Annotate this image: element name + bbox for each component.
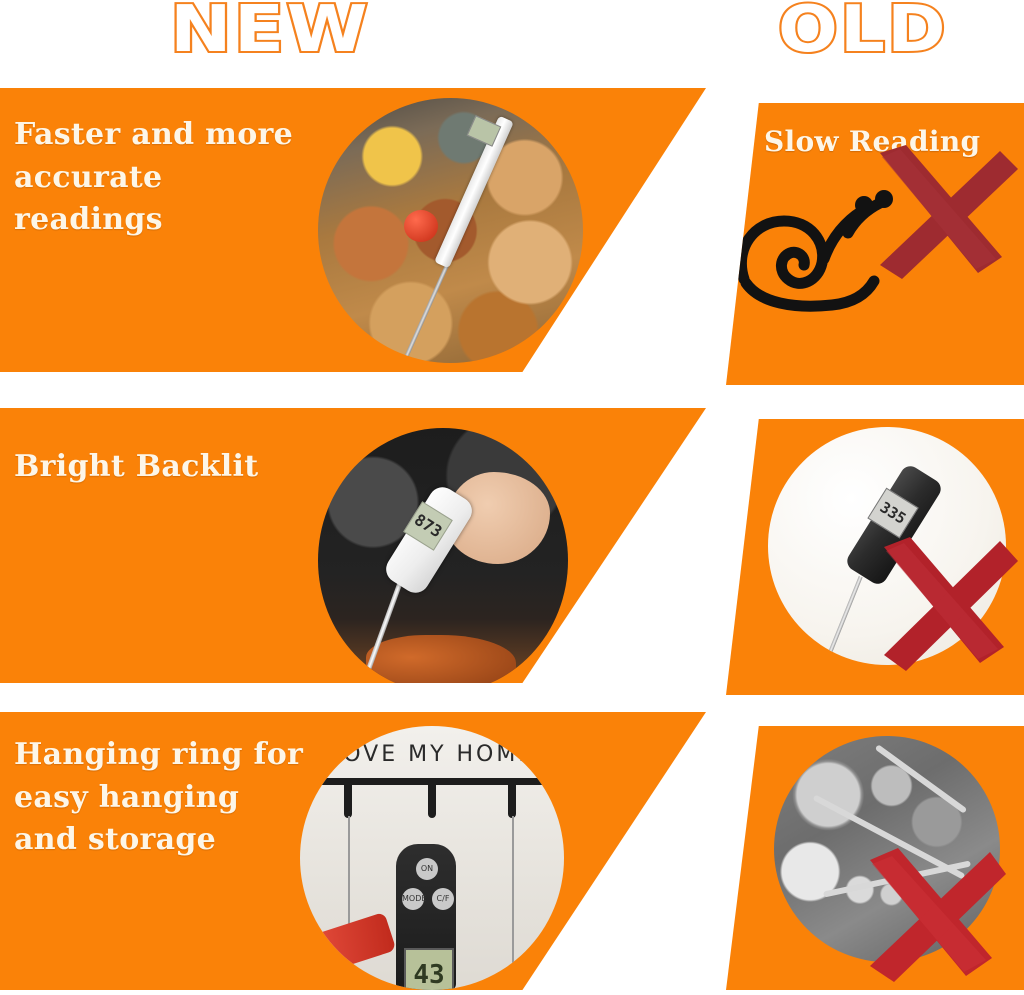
header-old-label: OLD bbox=[778, 0, 948, 62]
hook-icon bbox=[508, 784, 516, 818]
red-clip-shape bbox=[316, 912, 397, 972]
grilled-meat-shape bbox=[366, 635, 516, 683]
row-3-new-panel: Hanging ring for easy hanging and storag… bbox=[0, 712, 706, 990]
row-1-new-text: Faster and more accurate readings bbox=[14, 114, 344, 242]
red-x-mark bbox=[866, 531, 1018, 683]
thermometer-lcd-reading: 43 bbox=[404, 948, 454, 990]
row-2-new-panel: Bright Backlit 873 bbox=[0, 408, 706, 683]
hook-icon bbox=[428, 784, 436, 818]
hook-icon bbox=[344, 784, 352, 818]
metal-rod-shape bbox=[875, 744, 968, 814]
hanging-string-shape bbox=[512, 816, 514, 966]
red-x-mark bbox=[860, 139, 1018, 293]
hand-holding-backlit-thermometer-photo: 873 bbox=[318, 428, 568, 683]
row-2-new-text: Bright Backlit bbox=[14, 446, 344, 489]
probe-stem-shape bbox=[821, 576, 862, 665]
row-1-new-panel: Faster and more accurate readings bbox=[0, 88, 706, 372]
row-3-old-panel bbox=[726, 726, 1024, 990]
rail-text: LOVE MY HOME bbox=[300, 742, 564, 767]
comparison-infographic: NEW OLD Faster and more accurate reading… bbox=[0, 0, 1024, 995]
header-new-label: NEW bbox=[170, 0, 370, 62]
grilled-food-with-thermometer-photo bbox=[318, 98, 583, 363]
red-x-mark bbox=[854, 844, 1006, 990]
row-1-old-panel: Slow Reading bbox=[726, 103, 1024, 385]
hanging-string-shape bbox=[348, 816, 350, 928]
hanging-rail-storage-photo: LOVE MY HOME ON MODE C/F 43 bbox=[300, 726, 564, 990]
probe-stem-shape bbox=[402, 252, 454, 363]
row-2-old-panel: 335 bbox=[726, 419, 1024, 695]
thermometer-button-mode: MODE bbox=[402, 888, 424, 910]
tomato-shape bbox=[404, 210, 438, 242]
thermometer-button-on: ON bbox=[416, 858, 438, 880]
thermometer-button-cf: C/F bbox=[432, 888, 454, 910]
